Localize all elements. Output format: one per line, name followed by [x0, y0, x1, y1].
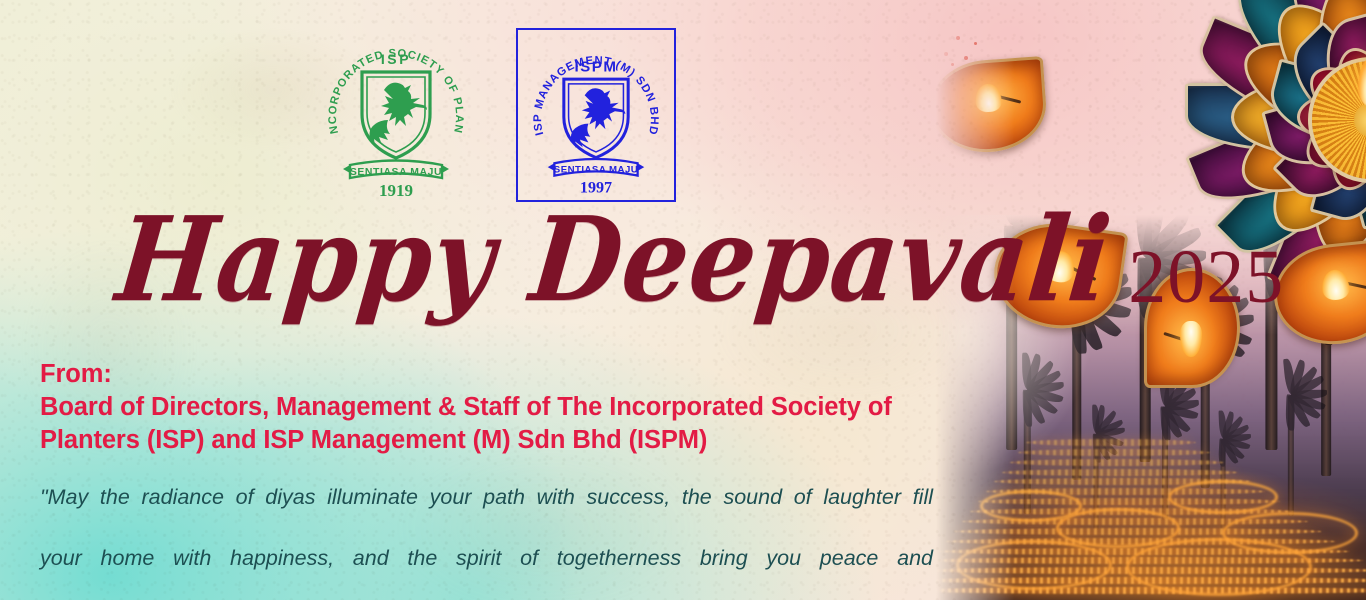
diya-oil-lamp — [936, 56, 1049, 156]
from-label: From: — [40, 358, 940, 391]
isp-motto: SENTIASA MAJU — [350, 167, 442, 178]
deepavali-greeting-banner: THE INCORPORATED SOCIETY OF PLANTERS ISP… — [0, 0, 1366, 600]
ispm-motto-ribbon: SENTIASA MAJU — [548, 159, 644, 176]
organisation-logos: THE INCORPORATED SOCIETY OF PLANTERS ISP… — [322, 28, 676, 202]
lamp-row — [1002, 469, 1238, 476]
headline-year: 2025 — [1128, 239, 1284, 315]
quote-line-2: your home with happiness, and the spirit… — [40, 543, 933, 600]
quote-line-1: "May the radiance of diyas illuminate yo… — [40, 482, 933, 543]
lamp-swirl — [980, 490, 1082, 522]
lamp-row — [1010, 459, 1224, 466]
lamp-swirl — [1168, 480, 1278, 514]
greeting-headline: Happy Deepavali 2025 — [112, 214, 1284, 318]
ispm-motto: SENTIASA MAJU — [554, 165, 638, 176]
ispm-abbreviation: ISPM — [574, 59, 617, 76]
lamp-row — [936, 587, 1366, 594]
greeting-quote: "May the radiance of diyas illuminate yo… — [40, 482, 933, 600]
isp-abbreviation: ISP — [381, 51, 411, 67]
lamp-swirl — [956, 540, 1112, 590]
isp-logo: THE INCORPORATED SOCIETY OF PLANTERS ISP… — [322, 28, 470, 200]
lamp-row — [1018, 449, 1210, 456]
ispm-lion-emblem — [571, 88, 625, 148]
ispm-logo-border: ISP MANAGEMENT (M) SDN BHD ISPM SENTIASA… — [516, 28, 676, 202]
decorative-sparks — [942, 30, 988, 68]
isp-arc-text: THE INCORPORATED SOCIETY OF PLANTERS — [322, 28, 465, 135]
lamp-swirl — [1222, 512, 1358, 554]
svg-text:THE INCORPORATED SOCIETY OF PL: THE INCORPORATED SOCIETY OF PLANTERS — [322, 28, 465, 135]
ispm-logo: ISP MANAGEMENT (M) SDN BHD ISPM SENTIASA… — [516, 28, 676, 202]
headline-script-text: Happy Deepavali — [112, 202, 1116, 318]
isp-motto-ribbon: SENTIASA MAJU — [343, 161, 449, 179]
from-body: Board of Directors, Management & Staff o… — [40, 391, 940, 457]
lamp-row — [1026, 439, 1196, 446]
sender-block: From: Board of Directors, Management & S… — [40, 358, 940, 457]
